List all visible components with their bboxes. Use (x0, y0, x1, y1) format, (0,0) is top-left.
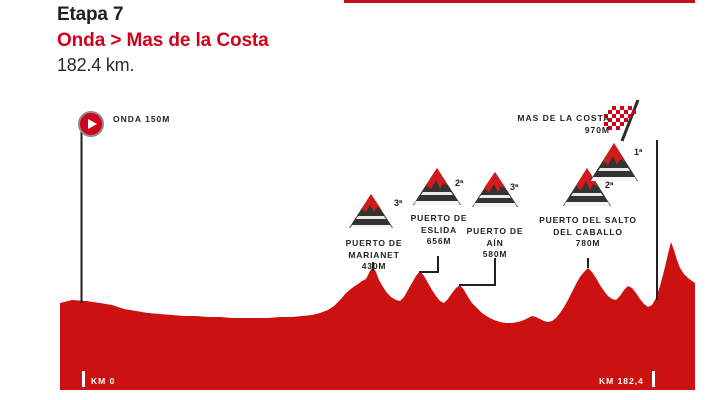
start-marker-play-icon (78, 111, 104, 137)
category-badge-marianet: 3ª (394, 198, 403, 208)
leader-line-eslida (419, 256, 438, 272)
climb-altitude: 780M (530, 238, 646, 250)
km-label-end: KM 182,4 (599, 376, 644, 387)
category-badge-ain: 3ª (510, 182, 519, 192)
climb-name-line-2: AÍN (458, 238, 532, 250)
climb-name-line-1: PUERTO DE (458, 226, 532, 238)
climb-name-line-1: PUERTO DE (400, 213, 478, 225)
stage-profile-page: Etapa 7 Onda > Mas de la Costa 182.4 km. (0, 0, 712, 400)
finish-name: MAS DE LA COSTA (517, 113, 610, 123)
finish-label: MAS DE LA COSTA 970M (505, 112, 610, 136)
mountain-icon-marianet (349, 194, 393, 228)
start-name: ONDA (113, 114, 142, 124)
start-label: ONDA 150M (113, 113, 170, 125)
finish-altitude: 970M (585, 125, 610, 135)
start-altitude: 150M (145, 114, 170, 124)
category-badge-salto-caballo: 2ª (605, 180, 614, 190)
climb-altitude: 430M (334, 261, 414, 273)
climb-name-line-2: MARIANET (334, 250, 414, 262)
climb-altitude: 580M (458, 249, 532, 261)
km-tick-start (82, 371, 85, 387)
mountain-icon-summit (590, 143, 638, 181)
km-label-start: KM 0 (91, 376, 115, 387)
climb-name-line-1: PUERTO DEL SALTO (530, 215, 646, 227)
km-tick-end (652, 371, 655, 387)
elevation-profile-chart: 3ª 2ª 3ª 2ª 1ª (0, 0, 712, 400)
category-badge-summit: 1ª (634, 147, 643, 157)
climb-label-ain: PUERTO DE AÍN 580M (458, 226, 532, 261)
category-badge-eslida: 2ª (455, 178, 464, 188)
climb-label-salto-caballo: PUERTO DEL SALTO DEL CABALLO 780M (530, 215, 646, 250)
play-triangle-icon (88, 119, 97, 129)
climb-name-line-2: DEL CABALLO (530, 227, 646, 239)
leader-line-ain (459, 258, 495, 285)
mountain-icon-eslida (413, 168, 461, 205)
